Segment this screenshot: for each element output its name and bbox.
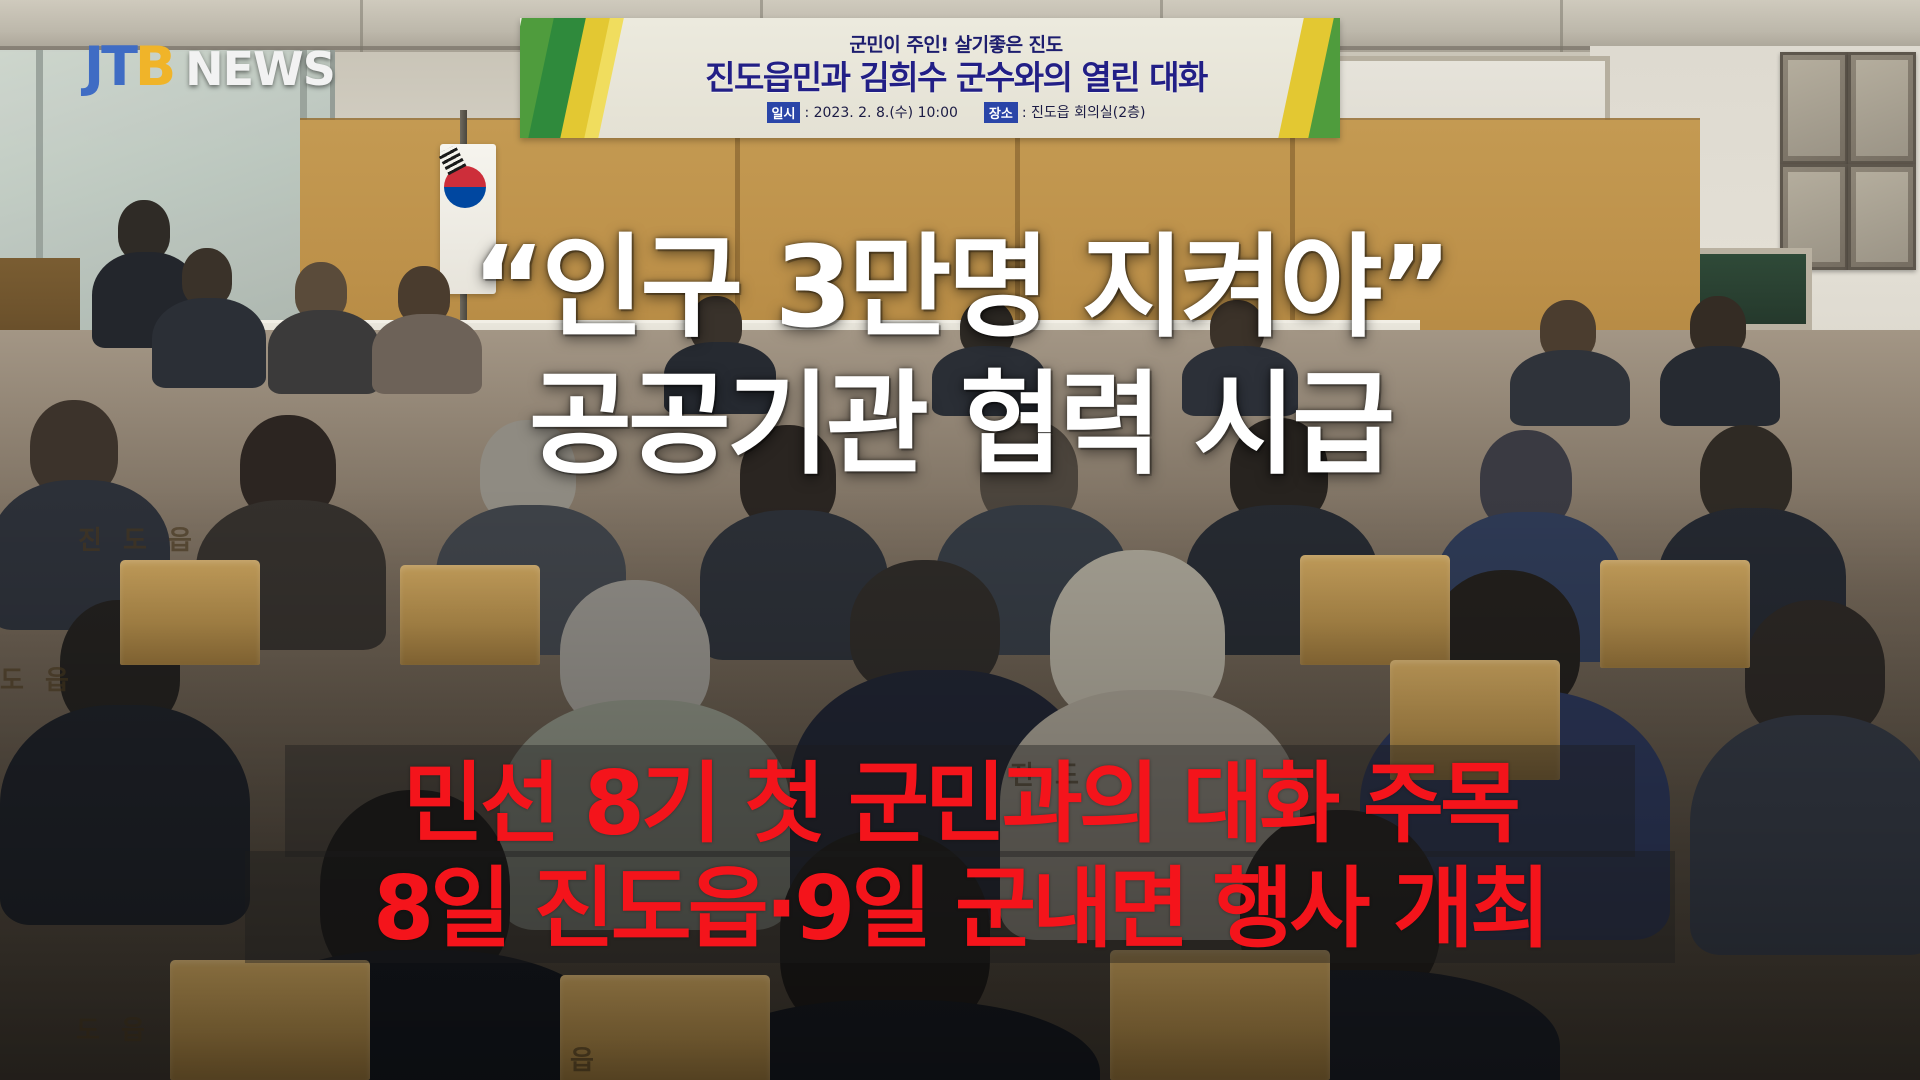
chair-label: 진 도: [1010, 755, 1085, 792]
person-body: [664, 342, 776, 414]
chair: [400, 565, 540, 665]
person-body: [1182, 346, 1298, 416]
person-body: [1660, 346, 1780, 426]
chair-label: 도 읍: [76, 1010, 151, 1047]
banner-content: 군민이 주인! 살기좋은 진도 진도읍민과 김희수 군수와의 열린 대화 일시 …: [630, 26, 1282, 132]
chair: [1300, 555, 1450, 665]
person-body: [500, 700, 790, 930]
wall-plaque: [1780, 52, 1848, 164]
chair-label: 읍: [570, 1040, 600, 1077]
banner-place: 장소 : 진도읍 회의실(2층): [984, 102, 1146, 123]
chair: [1390, 660, 1560, 780]
logo-mark: JTB: [84, 40, 173, 94]
logo-news-word: NEWS: [185, 42, 335, 96]
wall-plaque: [1848, 52, 1916, 164]
person-body: [268, 310, 380, 394]
ceiling-seam: [360, 0, 363, 52]
banner-eyebrow: 군민이 주인! 살기좋은 진도: [849, 35, 1062, 56]
person-body: [372, 314, 482, 394]
background-photo: 군민이 주인! 살기좋은 진도 진도읍민과 김희수 군수와의 열린 대화 일시 …: [0, 0, 1920, 1080]
person-body: [932, 346, 1046, 416]
banner-datetime-tag: 일시: [767, 102, 801, 123]
jtb-news-logo: JTB NEWS: [84, 40, 335, 96]
chair-label: 진 도 읍: [78, 520, 198, 557]
person-body: [0, 705, 250, 925]
person-head: [118, 200, 170, 260]
chair: [120, 560, 260, 665]
banner-place-tag: 장소: [984, 102, 1018, 123]
event-banner: 군민이 주인! 살기좋은 진도 진도읍민과 김희수 군수와의 열린 대화 일시 …: [520, 18, 1340, 138]
chair: [1110, 950, 1330, 1080]
banner-datetime: 일시 : 2023. 2. 8.(수) 10:00: [767, 102, 958, 123]
logo-jt: JT: [84, 35, 135, 98]
person-body: [1690, 715, 1920, 955]
banner-datetime-value: : 2023. 2. 8.(수) 10:00: [804, 102, 957, 122]
banner-place-value: : 진도읍 회의실(2층): [1022, 102, 1146, 122]
chair-label: 도 읍: [0, 660, 75, 697]
person-body: [152, 298, 266, 388]
banner-title: 진도읍민과 김희수 군수와의 열린 대화: [705, 59, 1207, 97]
news-broadcast-frame: 군민이 주인! 살기좋은 진도 진도읍민과 김희수 군수와의 열린 대화 일시 …: [0, 0, 1920, 1080]
banner-meta: 일시 : 2023. 2. 8.(수) 10:00 장소 : 진도읍 회의실(2…: [767, 102, 1146, 123]
wall-plaque: [1848, 164, 1916, 270]
logo-b: B: [135, 35, 173, 98]
person-body: [1510, 350, 1630, 426]
chair: [1600, 560, 1750, 668]
chair: [170, 960, 370, 1080]
ceiling-seam: [1560, 0, 1563, 52]
